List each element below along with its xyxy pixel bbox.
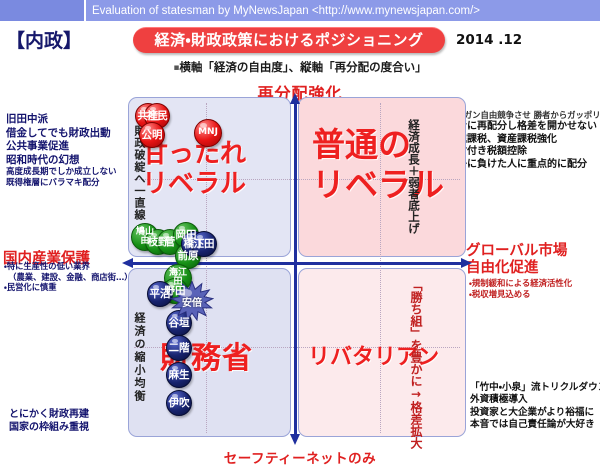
note-line: 「竹中・小泉」流トリクルダウン派 [470, 382, 600, 394]
quadrant-vertical-bl: 経済の縮小均衡 [131, 312, 147, 403]
marker-label: 平沼 [150, 289, 171, 300]
axis-right-line1: グローバル市場 [466, 243, 598, 260]
quadrant-label-top-left: 甘ったれ リベラル [142, 139, 246, 199]
category-label: 【内政】 [6, 26, 82, 53]
note-line: ガンガン自由競争させ 勝者からガッポリ取る [447, 110, 600, 121]
positioning-plot: 甘ったれ リベラル 普通の リベラル 財務省 リバタリアン 財政破綻へ一直線 経… [128, 97, 466, 437]
marker-label: 菅 [165, 237, 176, 248]
note-line: 投資家と大企業がより裕福に [470, 407, 600, 419]
y-axis [294, 103, 297, 435]
marker-label: 前原 [178, 251, 199, 262]
header-band: Evaluation of statesman by MyNewsJapan <… [0, 0, 600, 21]
note-line: 弱者に再配分し格差を開かせない [447, 121, 600, 134]
note-line: （農業、建設、金融、商店街…） [4, 272, 133, 283]
marker-red[interactable]: 公明 [139, 122, 165, 148]
axis-right-label: グローバル市場 自由化促進 [466, 243, 598, 277]
subtitle-text: 横軸「経済の自由度」、縦軸「再分配の度合い」 [179, 60, 426, 74]
marker-navy[interactable]: 麻生 [166, 362, 192, 388]
note-line: ・税収増見込める [469, 289, 572, 300]
marker-navy[interactable]: 伊吹 [166, 390, 192, 416]
quadrant-vertical-br: 「勝ち組」を豊かに→格差拡大 [408, 279, 425, 449]
note-bottom-left: とにかく財政再建国家の枠組み重視 [9, 408, 89, 434]
marker-label: MNJ [198, 128, 218, 137]
note-line: 本音では自己責任論が大好き [470, 419, 600, 431]
page-title: 経済・財政政策におけるポジショニング [133, 28, 445, 53]
marker-label: 伊吹 [169, 398, 190, 409]
note-top-right: ガンガン自由競争させ 勝者からガッポリ取る弱者に再配分し格差を開かせない累進課税… [447, 110, 600, 171]
note-line: 高度成長期でしか成立しない [6, 167, 117, 178]
note-line: とにかく財政再建 [9, 408, 89, 421]
note-line: 給付付き税額控除 [447, 146, 600, 159]
note-line: 競争に負けた人に重点的に配分 [447, 159, 600, 172]
note-line: ・規制緩和による経済活性化 [469, 278, 572, 289]
note-bottom-right: 「竹中・小泉」流トリクルダウン派外資積極導入投資家と大企業がより裕福に本音では自… [470, 382, 600, 432]
marker-label: 安倍 [182, 294, 202, 309]
marker-label: 谷垣 [169, 318, 190, 329]
note-line: 既得権層にバラマキ配分 [6, 178, 117, 189]
slide-root: Evaluation of statesman by MyNewsJapan <… [0, 0, 600, 466]
axis-bottom-label: セーフティーネットのみ [0, 447, 600, 467]
note-line: 公共事業促進 [6, 140, 117, 154]
note-top-left: 旧田中派借金してでも財政出動公共事業促進昭和時代の幻想高度成長期でしか成立しない… [6, 113, 117, 189]
quadrant-label-top-right: 普通の リベラル [312, 125, 444, 205]
note-line: 累進課税、資産課税強化 [447, 134, 600, 147]
marker-label: 公明 [142, 130, 163, 141]
marker-label: 二階 [169, 343, 190, 354]
note-line: ・民営化に慎重 [4, 282, 133, 293]
quadrant-label-tl-line2: リベラル [142, 169, 246, 199]
note-right-bullets: ・規制緩和による経済活性化・税収増見込める [469, 278, 572, 300]
quadrant-label-tr-line1: 普通の [312, 125, 444, 165]
note-line: 借金してでも財政出動 [6, 127, 117, 141]
quadrant-vertical-tr: 経済成長＋弱者底上げ [406, 119, 422, 234]
note-line: 外資積極導入 [470, 394, 600, 406]
note-line: 旧田中派 [6, 113, 117, 127]
title-pill: 経済・財政政策におけるポジショニング [133, 27, 445, 53]
note-line: 国家の枠組み重視 [9, 421, 89, 434]
note-line: ・特に生産性の低い業界 [4, 261, 133, 272]
axis-right-line2: 自由化促進 [466, 260, 598, 277]
header-credit: Evaluation of statesman by MyNewsJapan <… [92, 3, 597, 19]
marker-label: 麻生 [169, 370, 190, 381]
marker-label: 社民 [147, 111, 168, 122]
marker-red[interactable]: MNJ [194, 119, 222, 147]
quadrant-label-tr-line2: リベラル [312, 165, 444, 205]
note-line: 昭和時代の幻想 [6, 154, 117, 168]
note-left-bullets: ・特に生産性の低い業界 （農業、建設、金融、商店街…）・民営化に慎重 [4, 261, 133, 293]
subtitle: ▪横軸「経済の自由度」、縦軸「再分配の度合い」 [0, 59, 600, 75]
date-label: 2014 .12 [456, 32, 522, 48]
marker-navy[interactable]: 二階 [166, 335, 192, 361]
marker-label: 江田 [194, 239, 215, 250]
